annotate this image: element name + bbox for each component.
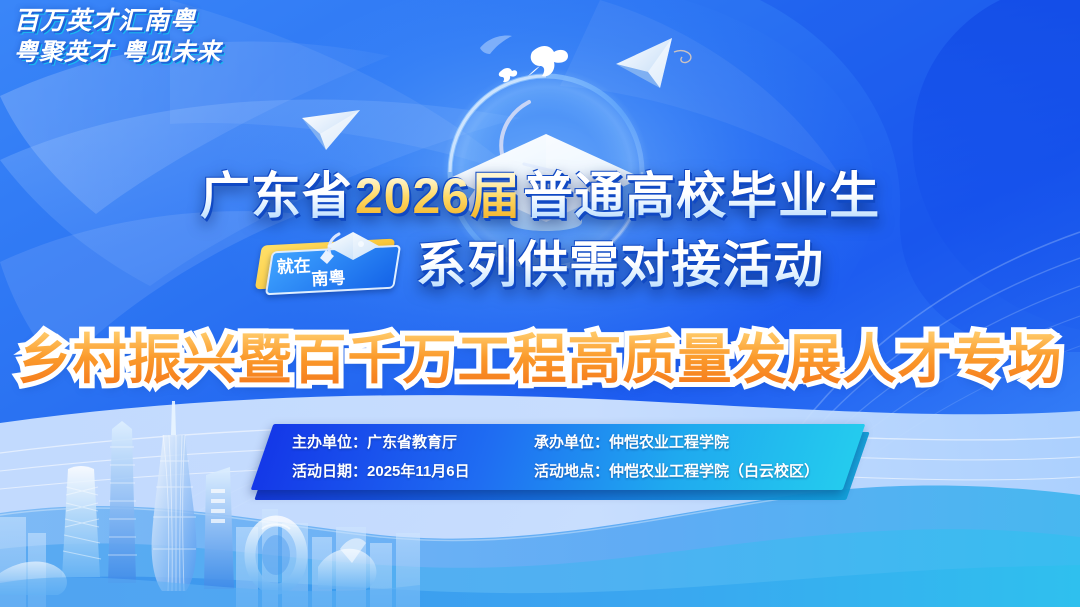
date-value: 2025年11月6日 bbox=[367, 463, 470, 480]
badge-line-2: 南粤 bbox=[311, 269, 346, 288]
title-year-highlight: 2026届 bbox=[354, 168, 522, 224]
venue-cell: 活动地点：仲恺农业工程学院（白云校区） bbox=[534, 457, 819, 486]
info-row-organizer: 主办单位：广东省教育厅 承办单位：仲恺农业工程学院 bbox=[292, 428, 858, 457]
date-cell: 活动日期：2025年11月6日 bbox=[292, 457, 534, 486]
venue-label: 活动地点： bbox=[534, 463, 609, 480]
main-title-line-2-row: 就在 南粤 系列供需对接活动 bbox=[0, 234, 1080, 296]
dove-icon bbox=[478, 34, 514, 56]
venue-value: 仲恺农业工程学院（白云校区） bbox=[609, 463, 819, 480]
main-title-line-1: 广东省2026届普通高校毕业生 bbox=[0, 168, 1080, 224]
event-info-bar: 主办单位：广东省教育厅 承办单位：仲恺农业工程学院 活动日期：2025年11月6… bbox=[262, 424, 858, 496]
organizer-value: 广东省教育厅 bbox=[367, 434, 457, 451]
host-label: 承办单位： bbox=[534, 434, 609, 451]
badge-text: 就在 南粤 bbox=[274, 245, 392, 295]
host-value: 仲恺农业工程学院 bbox=[609, 434, 729, 451]
jiuzai-nanyue-badge: 就在 南粤 bbox=[255, 234, 405, 296]
host-cell: 承办单位：仲恺农业工程学院 bbox=[534, 428, 729, 457]
date-label: 活动日期： bbox=[292, 463, 367, 480]
event-subtitle: 乡村振兴暨百千万工程高质量发展人才专场 乡村振兴暨百千万工程高质量发展人才专场 bbox=[0, 325, 1080, 395]
badge-line-1: 就在 bbox=[276, 257, 311, 276]
main-title-line-2: 系列供需对接活动 bbox=[415, 237, 825, 293]
slogan-line-1: 百万英才汇南粤 bbox=[14, 6, 222, 36]
title-part-2: 普通高校毕业生 bbox=[522, 168, 881, 224]
poster-banner: 百万英才汇南粤 粤聚英才 粤见未来 bbox=[0, 0, 1080, 607]
campaign-slogan: 百万英才汇南粤 粤聚英才 粤见未来 bbox=[14, 6, 222, 68]
title-part-1: 广东省 bbox=[199, 168, 354, 224]
subtitle-text: 乡村振兴暨百千万工程高质量发展人才专场 bbox=[18, 330, 1063, 390]
organizer-cell: 主办单位：广东省教育厅 bbox=[292, 428, 534, 457]
main-title: 广东省2026届普通高校毕业生 bbox=[0, 168, 1080, 296]
info-row-schedule: 活动日期：2025年11月6日 活动地点：仲恺农业工程学院（白云校区） bbox=[292, 457, 858, 486]
organizer-label: 主办单位： bbox=[292, 434, 367, 451]
paper-plane-icon bbox=[296, 108, 366, 152]
info-bar-rows: 主办单位：广东省教育厅 承办单位：仲恺农业工程学院 活动日期：2025年11月6… bbox=[262, 424, 858, 490]
slogan-line-2: 粤聚英才 粤见未来 bbox=[14, 38, 222, 68]
